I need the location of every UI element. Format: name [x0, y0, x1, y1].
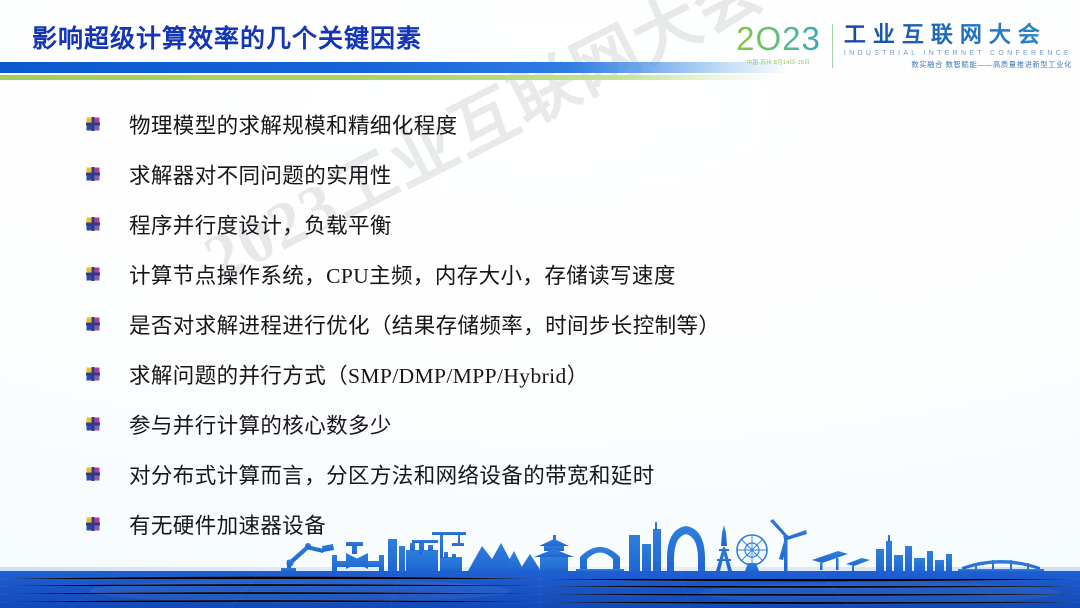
logo-place-date: 中国·苏州 8月14日-15日 [737, 58, 820, 66]
bullet-item: 计算节点操作系统，CPU主频，内存大小，存储读写速度 [86, 249, 720, 299]
bullet-text: 参与并行计算的核心数多少 [129, 409, 392, 440]
logo-tagline: 数实融合 数智赋能——高质量推进新型工业化 [844, 59, 1072, 70]
long-bridge-icon [958, 560, 1044, 572]
logo-name-en: INDUSTRIAL INTERNET CONFERENCE [844, 48, 1072, 59]
bullet-text: 对分布式计算而言，分区方法和网络设备的带宽和延时 [129, 459, 655, 490]
logo-name-block: 工业互联网大会 INDUSTRIAL INTERNET CONFERENCE 数… [833, 22, 1072, 70]
four-color-cross-icon [86, 417, 100, 431]
bullet-item: 参与并行计算的核心数多少 [86, 399, 720, 449]
four-color-cross-icon [86, 367, 100, 381]
four-color-cross-icon [86, 517, 100, 531]
bullet-item: 求解问题的并行方式（SMP/DMP/MPP/Hybrid） [86, 349, 720, 399]
arch-bridge-icon [576, 547, 624, 572]
logo-year-block: 2O23 中国·苏州 8月14日-15日 [736, 22, 832, 66]
solar-panel-icon [812, 551, 870, 571]
logo-year: 2O23 [736, 22, 821, 56]
bullet-text: 有无硬件加速器设备 [129, 509, 326, 540]
logo-name-cn: 工业互联网大会 [844, 22, 1072, 48]
slide-canvas: 2023工业互联网大会 影响超级计算效率的几个关键因素 2O23 中国·苏州 8… [0, 0, 1080, 608]
four-color-cross-icon [86, 467, 100, 481]
four-color-cross-icon [86, 117, 100, 131]
four-color-cross-icon [86, 217, 100, 231]
bullet-text: 程序并行度设计，负载平衡 [129, 209, 392, 240]
water-band [0, 571, 1080, 608]
bullet-item: 物理模型的求解规模和精细化程度 [86, 99, 720, 149]
bullet-text: 求解器对不同问题的实用性 [129, 159, 392, 190]
bullet-item: 是否对求解进程进行优化（结果存储频率，时间步长控制等） [86, 299, 720, 349]
city-buildings-icon [876, 535, 952, 571]
bullet-item: 程序并行度设计，负载平衡 [86, 199, 720, 249]
bullet-text: 计算节点操作系统，CPU主频，内存大小，存储读写速度 [129, 259, 676, 290]
bullet-list: 物理模型的求解规模和精细化程度求解器对不同问题的实用性程序并行度设计，负载平衡计… [86, 99, 720, 549]
bullet-item: 对分布式计算而言，分区方法和网络设备的带宽和延时 [86, 449, 720, 499]
bullet-item: 求解器对不同问题的实用性 [86, 149, 720, 199]
page-title: 影响超级计算效率的几个关键因素 [32, 19, 422, 55]
bullet-text: 物理模型的求解规模和精细化程度 [129, 109, 458, 140]
four-color-cross-icon [86, 317, 100, 331]
bullet-text: 求解问题的并行方式（SMP/DMP/MPP/Hybrid） [129, 359, 589, 390]
divider-bar-blue [0, 62, 790, 73]
wind-turbine-icon [770, 519, 807, 571]
ferris-wheel-icon [737, 535, 767, 571]
bullet-item: 有无硬件加速器设备 [86, 499, 720, 549]
four-color-cross-icon [86, 267, 100, 281]
conference-logo: 2O23 中国·苏州 8月14日-15日 工业互联网大会 INDUSTRIAL … [736, 22, 1072, 78]
four-color-cross-icon [86, 167, 100, 181]
divider-bar-green [0, 75, 775, 80]
bullet-text: 是否对求解进程进行优化（结果存储频率，时间步长控制等） [129, 309, 720, 340]
